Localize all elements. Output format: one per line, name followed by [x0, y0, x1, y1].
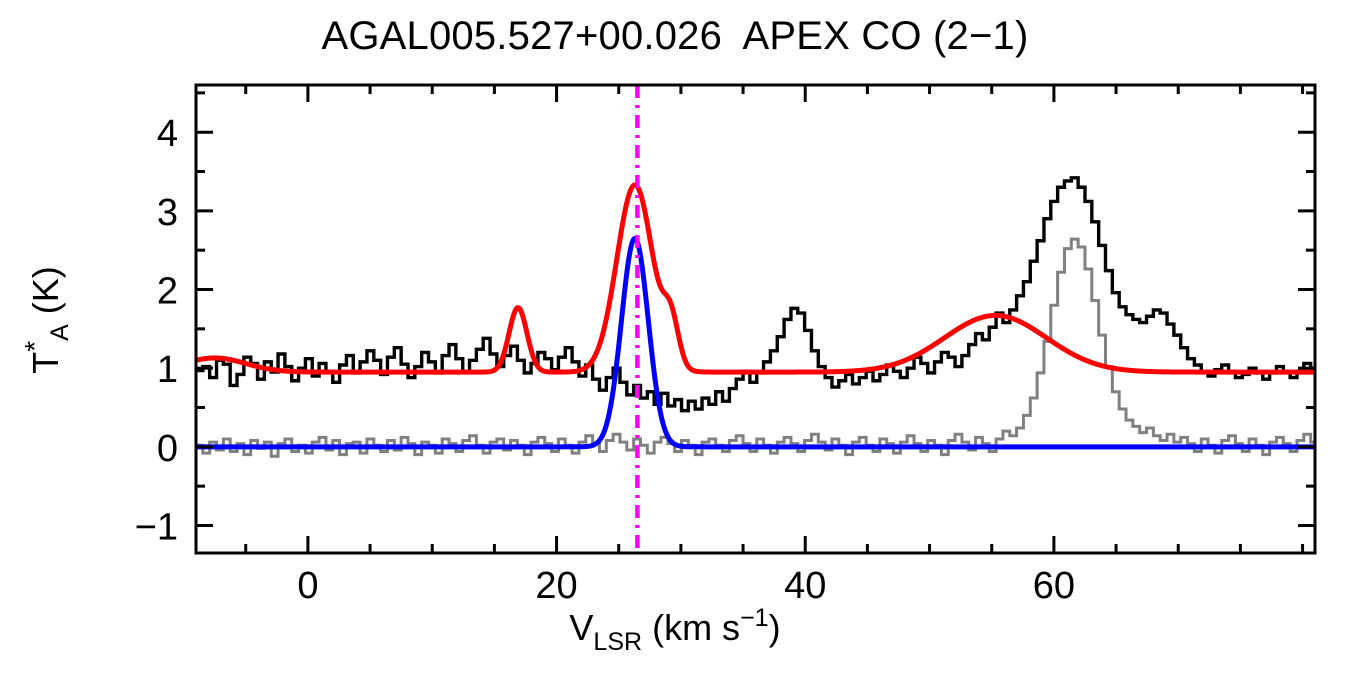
x-tick-label: 20: [535, 565, 577, 607]
x-axis-title: VLSR (km s−1): [569, 604, 780, 656]
y-axis-title: T*A (K): [19, 266, 74, 374]
x-tick-label: 0: [297, 565, 318, 607]
gaussian-fit-upper: [196, 185, 1315, 372]
observed-spectrum-trace: [196, 178, 1350, 411]
gaussian-fit-lower: [196, 238, 1315, 446]
y-tick-labels: −101234: [135, 113, 178, 548]
y-axis-title-unit: (K): [25, 266, 66, 314]
x-axis-title-main: V: [569, 607, 593, 648]
y-tick-label: 2: [157, 271, 178, 313]
svg-text:VLSR (km s−1): VLSR (km s−1): [569, 604, 780, 656]
svg-text:T*A (K): T*A (K): [19, 266, 74, 374]
x-tick-label: 60: [1033, 565, 1075, 607]
residual-spectrum-trace: [196, 239, 1350, 458]
y-tick-label: 0: [157, 428, 178, 470]
x-axis-title-unit: (km s: [652, 607, 740, 648]
y-axis-title-sub: A: [46, 324, 74, 341]
y-tick-label: 1: [157, 349, 178, 391]
figure-root: AGAL005.527+00.026 APEX CO (2−1) 0204060…: [0, 0, 1350, 675]
x-tick-label: 40: [784, 565, 826, 607]
x-axis-title-sub: LSR: [593, 628, 642, 656]
y-tick-label: −1: [135, 506, 178, 548]
spectrum-plot: 0204060 −101234 VLSR (km s−1) T*A (K): [0, 0, 1350, 675]
y-tick-label: 3: [157, 192, 178, 234]
x-tick-labels: 0204060: [297, 565, 1075, 607]
y-tick-label: 4: [157, 113, 178, 155]
x-axis-title-exponent: −1: [740, 604, 769, 632]
x-axis-title-close: ): [769, 607, 781, 648]
y-axis-title-main: T: [25, 352, 66, 374]
y-axis-title-star: *: [19, 341, 50, 352]
